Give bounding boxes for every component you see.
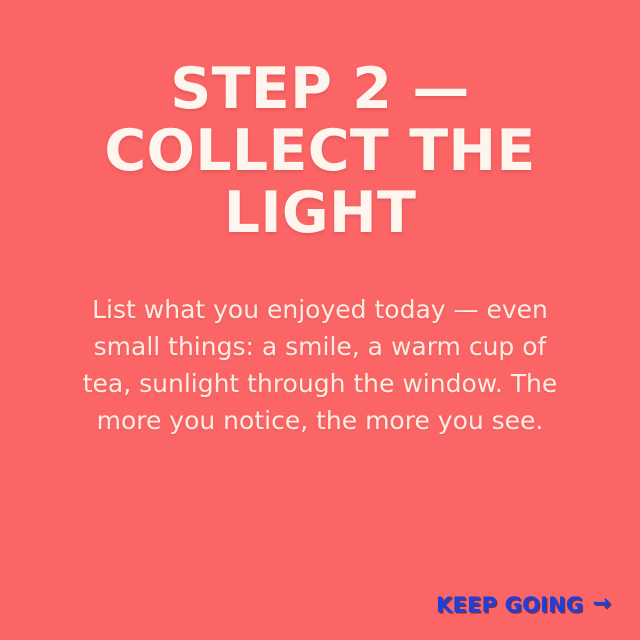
slide-body-text: List what you enjoyed today — even small… xyxy=(70,244,570,439)
keep-going-label: KEEP GOING xyxy=(436,595,583,616)
slide-content: STEP 2 — COLLECT THE LIGHT List what you… xyxy=(0,0,640,439)
arrow-right-icon: → xyxy=(592,593,611,615)
page-title: STEP 2 — COLLECT THE LIGHT xyxy=(60,58,580,244)
keep-going-button[interactable]: KEEP GOING → xyxy=(436,594,611,616)
slide-canvas: STEP 2 — COLLECT THE LIGHT List what you… xyxy=(0,0,640,640)
